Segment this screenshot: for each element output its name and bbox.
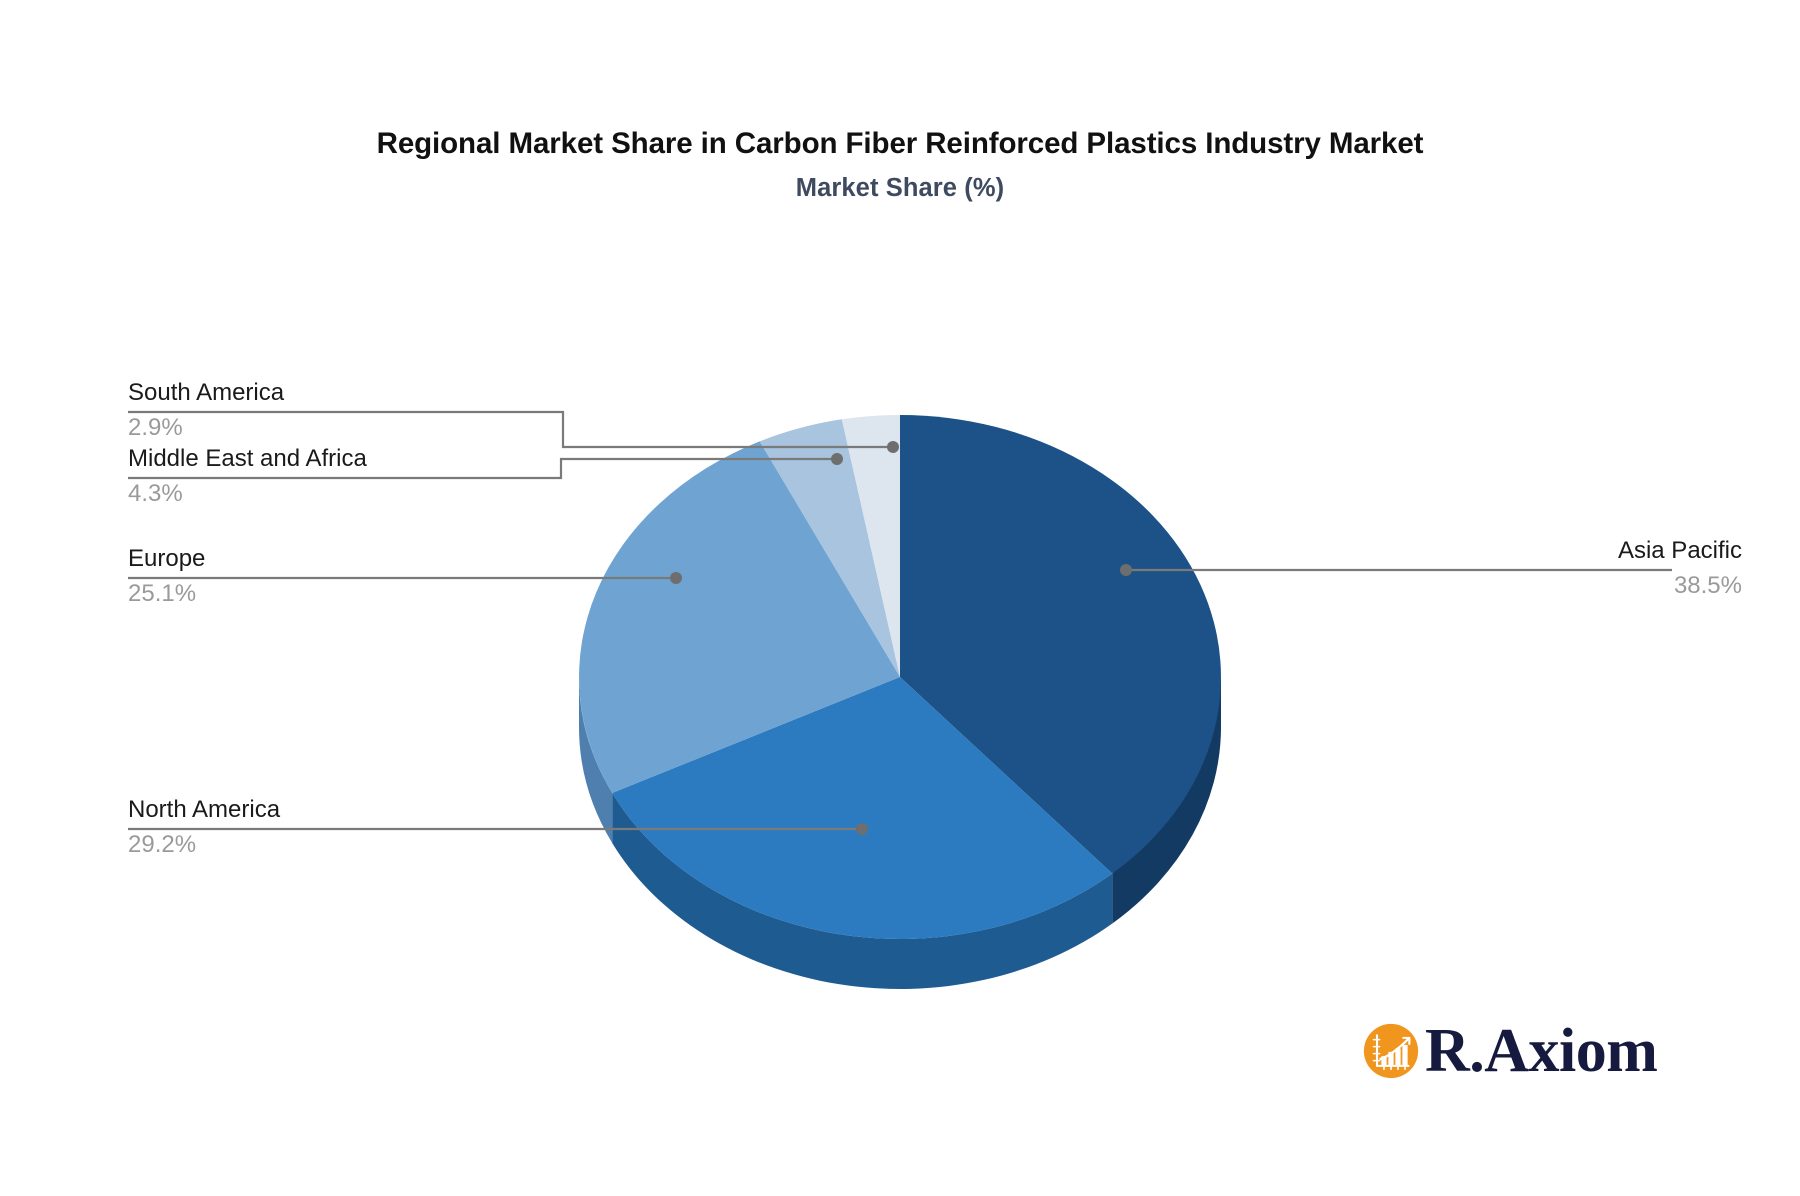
- brand-logo[interactable]: R.Axiom: [1363, 1020, 1657, 1082]
- callout-europe[interactable]: Europe 25.1%: [128, 544, 205, 610]
- leader-dot-south-america: [887, 441, 899, 453]
- callout-north-america-label: North America: [128, 795, 280, 825]
- brand-logo-text: R.Axiom: [1425, 1020, 1657, 1082]
- bar-chart-growth-icon: [1363, 1023, 1419, 1079]
- callout-asia-pacific-value: 38.5%: [1618, 566, 1742, 602]
- callout-europe-value: 25.1%: [128, 574, 205, 610]
- leader-dot-middle-east-africa: [831, 453, 843, 465]
- callout-europe-label: Europe: [128, 544, 205, 574]
- callout-middle-east-africa[interactable]: Middle East and Africa 4.3%: [128, 444, 367, 510]
- pie-chart-figure: Regional Market Share in Carbon Fiber Re…: [0, 0, 1800, 1196]
- leader-dot-europe: [670, 572, 682, 584]
- callout-middle-east-africa-value: 4.3%: [128, 474, 367, 510]
- callout-north-america-value: 29.2%: [128, 825, 280, 861]
- callout-middle-east-africa-label: Middle East and Africa: [128, 444, 367, 474]
- callout-asia-pacific[interactable]: Asia Pacific 38.5%: [1618, 536, 1742, 602]
- callout-south-america-value: 2.9%: [128, 408, 284, 444]
- callout-south-america[interactable]: South America 2.9%: [128, 378, 284, 444]
- callout-asia-pacific-label: Asia Pacific: [1618, 536, 1742, 566]
- callout-north-america[interactable]: North America 29.2%: [128, 795, 280, 861]
- leader-dot-asia-pacific: [1120, 564, 1132, 576]
- leader-dot-north-america: [856, 823, 868, 835]
- pie-slices: [579, 415, 1221, 939]
- callout-south-america-label: South America: [128, 378, 284, 408]
